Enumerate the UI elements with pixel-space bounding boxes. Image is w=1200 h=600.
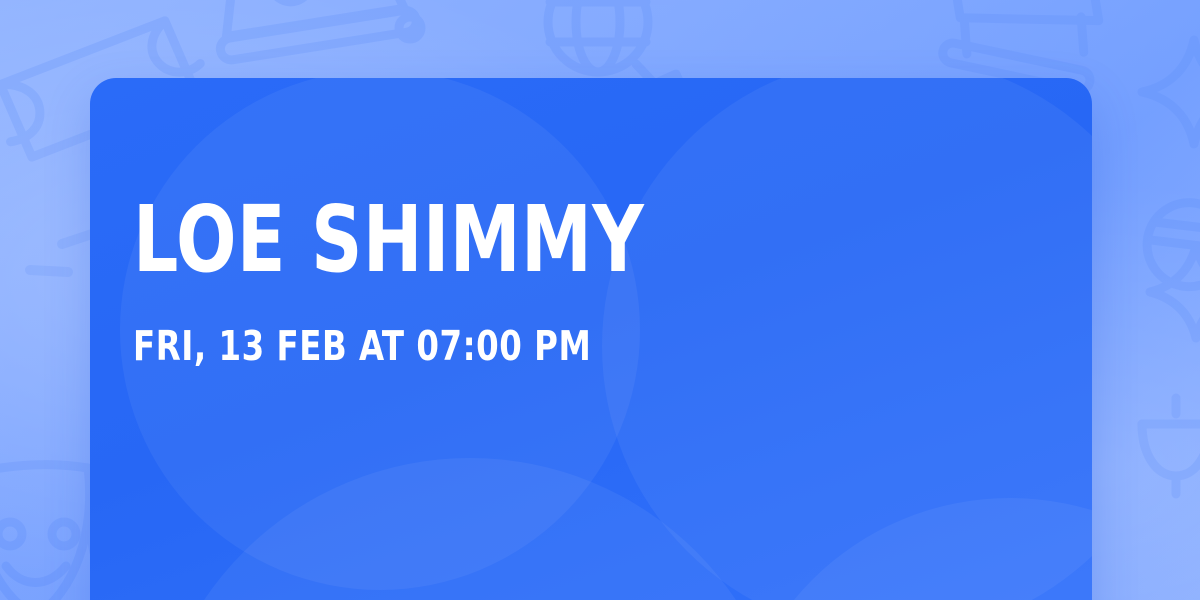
lantern-icon — [1142, 398, 1200, 494]
decorative-circle — [730, 498, 1092, 600]
event-datetime: FRI, 13 FEB AT 07:00 PM — [133, 326, 802, 367]
event-title: LOE SHIMMY — [133, 196, 787, 284]
laptop-icon — [206, 0, 418, 61]
event-card-text: LOE SHIMMY FRI, 13 FEB AT 07:00 PM — [133, 196, 893, 367]
event-card-page: LOE SHIMMY FRI, 13 FEB AT 07:00 PM — [0, 0, 1200, 600]
microphone-icon — [1130, 186, 1200, 360]
dot-icon — [30, 234, 92, 272]
sparkle-icon — [1142, 40, 1200, 144]
sparkle-icon — [1150, 246, 1200, 338]
event-card[interactable]: LOE SHIMMY FRI, 13 FEB AT 07:00 PM — [90, 78, 1092, 600]
decorative-circle — [150, 458, 790, 600]
